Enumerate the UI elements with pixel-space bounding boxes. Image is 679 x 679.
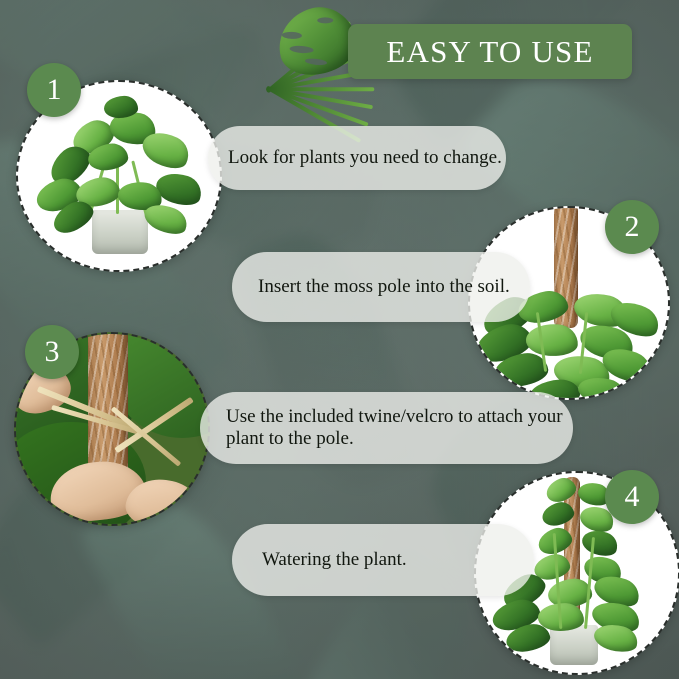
step-text-pill-2: Insert the moss pole into the soil. [232, 252, 530, 322]
step-text-2: Insert the moss pole into the soil. [258, 276, 510, 298]
step-number-3: 3 [45, 335, 60, 369]
step-text-3: Use the included twine/velcro to attach … [226, 406, 573, 450]
header-banner: EASY TO USE [348, 24, 632, 79]
step-number-2: 2 [625, 210, 640, 244]
step-text-pill-4: Watering the plant. [232, 524, 534, 596]
step-number-1: 1 [47, 73, 62, 107]
step-badge-2: 2 [605, 200, 659, 254]
step-text-pill-3: Use the included twine/velcro to attach … [200, 392, 573, 464]
step-text-4: Watering the plant. [262, 549, 407, 571]
step-badge-4: 4 [605, 470, 659, 524]
page-title: EASY TO USE [386, 34, 593, 70]
step-text-pill-1: Look for plants you need to change. [208, 126, 506, 190]
infographic-poster: EASY TO USE 1 Look for plants you need t… [0, 0, 679, 679]
step-text-1: Look for plants you need to change. [228, 147, 502, 169]
step-badge-3: 3 [25, 325, 79, 379]
step-number-4: 4 [625, 480, 640, 514]
step-badge-1: 1 [27, 63, 81, 117]
